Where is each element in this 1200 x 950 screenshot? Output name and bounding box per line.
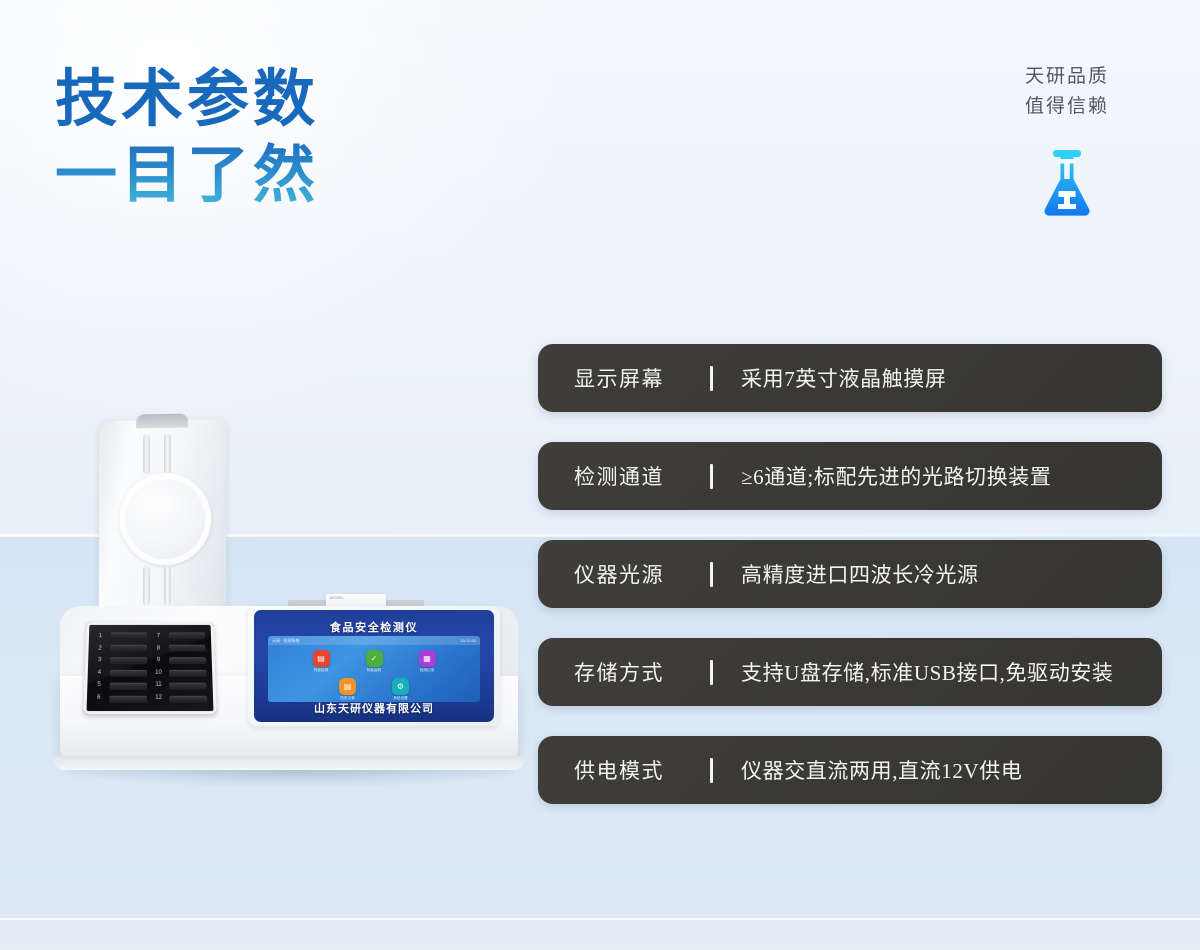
lcd-app-label: 系统设置: [381, 696, 421, 701]
lcd-app-icon: ▤: [339, 678, 356, 695]
well-number: 7: [152, 632, 165, 641]
well-slot: [169, 696, 207, 703]
well-number: 12: [152, 694, 165, 703]
spec-divider: [710, 366, 713, 391]
screen-title: 食品安全检测仪: [268, 622, 480, 635]
well-number: 3: [93, 656, 106, 665]
lid-slot: [164, 566, 171, 606]
well-slot: [169, 683, 207, 690]
lid-disc: [119, 473, 211, 566]
well-slot: [169, 670, 206, 677]
lid-slot: [143, 566, 150, 606]
spec-value: 采用7英寸液晶触摸屏: [741, 363, 947, 393]
well-number: 9: [152, 656, 165, 665]
spec-value: ≥6通道;标配先进的光路切换装置: [741, 461, 1051, 491]
lcd-app-item[interactable]: ▦ 检测记录: [407, 650, 447, 673]
lcd-status-bar: 天研 · 检测系统 15:12:53: [268, 636, 480, 645]
device-base: [54, 756, 524, 770]
spec-divider: [710, 758, 713, 783]
well-number: 6: [92, 694, 105, 703]
spec-card[interactable]: 检测通道 ≥6通道;标配先进的光路切换装置: [538, 442, 1162, 510]
well-number: 8: [152, 644, 165, 653]
well-number-list: 1 2 3 4 5 6: [92, 631, 107, 705]
lcd-app-icon: ▦: [419, 650, 436, 667]
spec-list: 显示屏幕 采用7英寸液晶触摸屏 检测通道 ≥6通道;标配先进的光路切换装置 仪器…: [538, 344, 1162, 804]
brand-badge: 天研品质 值得信赖: [982, 62, 1152, 218]
spec-label: 存储方式: [574, 657, 700, 687]
lcd-app-label: 标准曲线: [354, 668, 394, 673]
spec-label: 检测通道: [574, 461, 700, 491]
lcd-app-item[interactable]: ▤ 样品检测: [301, 650, 341, 673]
well-slot-list: [168, 631, 208, 705]
spec-label: 显示屏幕: [574, 363, 700, 393]
spec-label: 供电模式: [574, 755, 700, 785]
well-number: 10: [152, 669, 165, 678]
company-name: 山东天研仪器有限公司: [254, 702, 494, 716]
lid-slot: [143, 434, 150, 474]
well-column-left: 1 2 3 4 5 6: [92, 631, 148, 705]
well-slot: [169, 632, 206, 639]
brand-line-1: 天研品质: [982, 62, 1152, 92]
spec-label: 仪器光源: [574, 559, 700, 589]
spec-card[interactable]: 供电模式 仪器交直流两用,直流12V供电: [538, 736, 1162, 804]
spec-card[interactable]: 显示屏幕 采用7英寸液晶触摸屏: [538, 344, 1162, 412]
well-number: 5: [92, 681, 105, 690]
spec-card[interactable]: 存储方式 支持U盘存储,标准USB接口,免驱动安装: [538, 638, 1162, 706]
device-illustration: 1 2 3 4 5 6 7 8 9 10 11: [40, 408, 530, 818]
spec-divider: [710, 660, 713, 685]
lcd-app-item[interactable]: ✓ 标准曲线: [354, 650, 394, 673]
sample-well-panel: 1 2 3 4 5 6 7 8 9 10 11: [83, 622, 216, 714]
well-number: 1: [94, 632, 107, 641]
lcd-app-label: 样品检测: [301, 668, 341, 673]
spec-value: 支持U盘存储,标准USB接口,免驱动安装: [741, 657, 1114, 687]
lcd-app-icon: ✓: [366, 650, 383, 667]
lcd-app-item[interactable]: ▤ 历史记录: [328, 678, 368, 701]
lcd-app-item[interactable]: ⚙ 系统设置: [381, 678, 421, 701]
lcd-app-label: 历史记录: [328, 696, 368, 701]
well-column-right: 7 8 9 10 11 12: [152, 631, 208, 705]
well-number: 2: [93, 644, 106, 653]
spec-value: 仪器交直流两用,直流12V供电: [741, 755, 1022, 785]
headline-line-2: 一目了然: [55, 138, 319, 214]
lcd-status-left: 天研 · 检测系统: [272, 638, 300, 644]
well-slot-list: [108, 631, 148, 705]
lcd-display[interactable]: 天研 · 检测系统 15:12:53 ▤ 样品检测 ✓ 标准曲线 ▦ 检测记录 …: [268, 636, 480, 702]
spec-card[interactable]: 仪器光源 高精度进口四波长冷光源: [538, 540, 1162, 608]
well-slot: [169, 657, 206, 664]
well-slot: [110, 683, 147, 690]
brand-line-2: 值得信赖: [982, 92, 1152, 122]
lcd-app-icon: ▤: [313, 650, 330, 667]
spec-divider: [710, 562, 713, 587]
lid-tab: [136, 414, 188, 429]
headline-line-1: 技术参数: [55, 62, 319, 138]
well-number: 4: [93, 669, 106, 678]
well-slot: [111, 632, 147, 639]
well-slot: [109, 696, 147, 703]
background-footer-band: [0, 920, 1200, 950]
well-slot: [110, 670, 147, 677]
well-slot: [169, 645, 206, 652]
well-slot: [110, 645, 147, 652]
well-number-list: 7 8 9 10 11 12: [152, 631, 165, 705]
lid-slot: [164, 434, 171, 474]
well-slot: [110, 657, 147, 664]
well-number: 11: [152, 681, 165, 690]
page-title: 技术参数 一目了然: [55, 62, 319, 214]
lcd-app-icon: ⚙: [392, 678, 409, 695]
lcd-status-time: 15:12:53: [460, 638, 476, 643]
spec-divider: [710, 464, 713, 489]
lcd-app-grid: ▤ 样品检测 ✓ 标准曲线 ▦ 检测记录 ▤ 历史记录 ⚙ 系统设置: [268, 645, 480, 701]
lcd-app-label: 检测记录: [407, 668, 447, 673]
device-lid: [99, 419, 227, 623]
flask-icon: [982, 146, 1152, 218]
spec-value: 高精度进口四波长冷光源: [741, 559, 979, 589]
